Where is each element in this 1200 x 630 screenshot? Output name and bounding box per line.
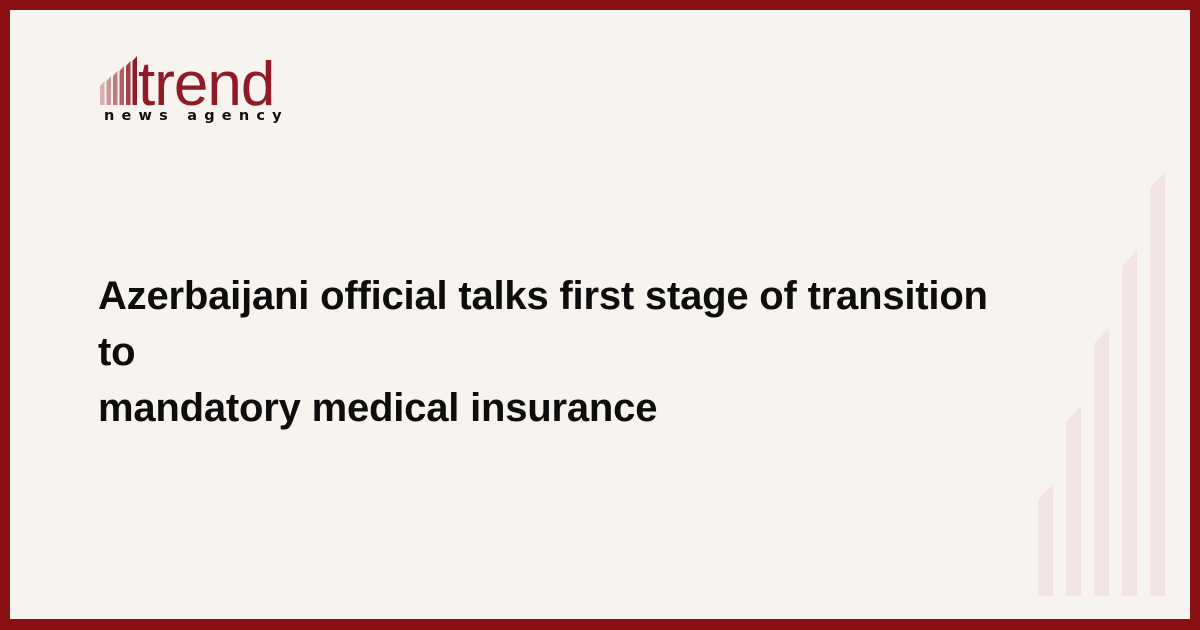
trend-news-agency-logo[interactable]: trend news agency — [98, 48, 338, 140]
headline-line-2: mandatory medical insurance — [98, 380, 1008, 436]
card-canvas: trend news agency Azerbaijani official t… — [10, 10, 1190, 619]
logo-wordmark: trend — [138, 50, 274, 110]
logo-lockup: trend — [98, 48, 338, 115]
headline-line-1: Azerbaijani official talks first stage o… — [98, 268, 1008, 380]
share-card: trend news agency Azerbaijani official t… — [0, 0, 1200, 630]
ascending-bars-watermark-icon — [1020, 10, 1190, 619]
headline: Azerbaijani official talks first stage o… — [98, 268, 1008, 436]
ascending-bars-icon — [100, 56, 137, 105]
logo-tagline: news agency — [104, 108, 289, 124]
